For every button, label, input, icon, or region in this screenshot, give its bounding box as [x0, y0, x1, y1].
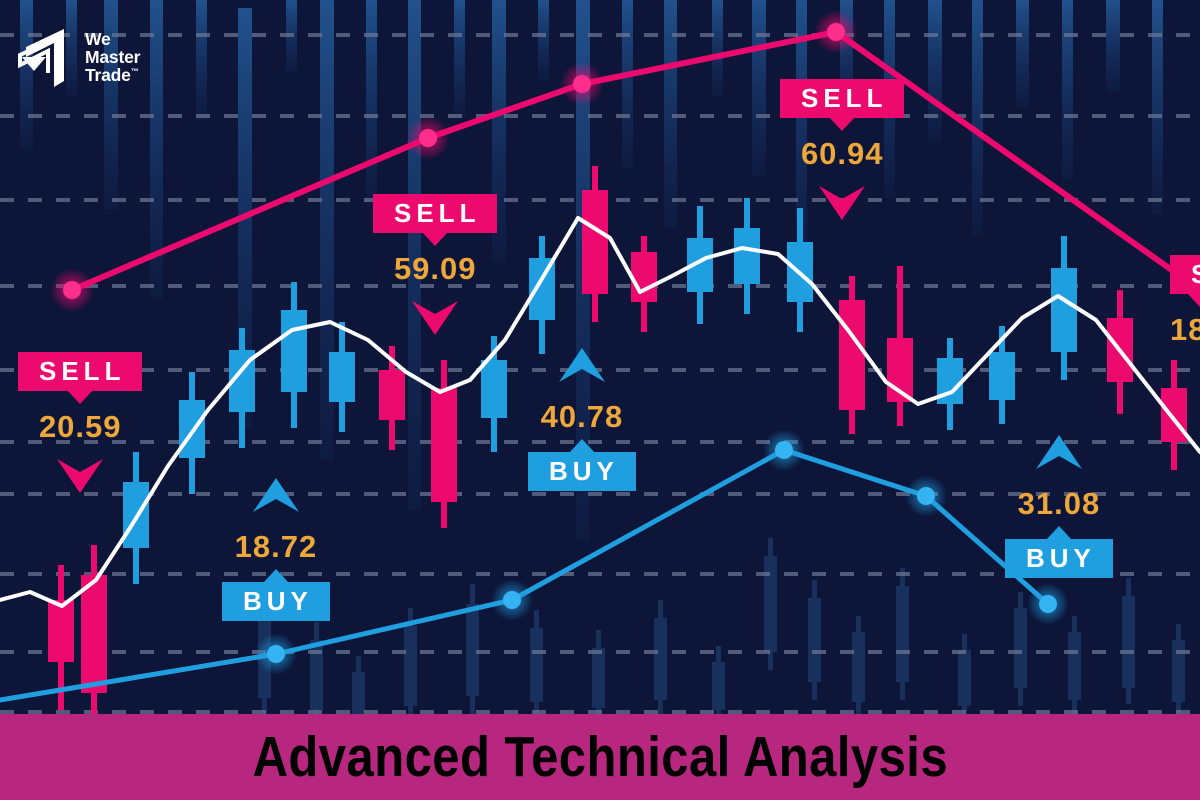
- signal-price: 59.09: [394, 253, 477, 284]
- up-triangle-icon: [1036, 435, 1082, 471]
- signal-marker-buy-31-08[interactable]: 31.08 BUY: [1005, 435, 1113, 578]
- brand-line-3: Trade™: [85, 67, 140, 85]
- sell-label[interactable]: SELL: [780, 79, 904, 118]
- up-triangle-icon: [559, 348, 605, 384]
- signal-marker-buy-18-72[interactable]: 18.72 BUY: [222, 478, 330, 621]
- up-triangle-icon: [253, 478, 299, 514]
- brand-line-3-text: Trade: [85, 65, 131, 85]
- signal-price: 31.08: [1018, 488, 1101, 519]
- trademark-symbol: ™: [131, 67, 139, 76]
- down-triangle-icon: [412, 301, 458, 337]
- signal-price: 40.78: [541, 401, 624, 432]
- buy-label[interactable]: BUY: [1005, 539, 1113, 578]
- chart-canvas: We Master Trade™ SELL 20.59 18.72 BUY: [0, 0, 1200, 800]
- bottom-banner: Advanced Technical Analysis: [0, 714, 1200, 800]
- brand-name: We Master Trade™: [85, 31, 140, 85]
- signal-price: 60.94: [801, 138, 884, 169]
- signal-price: 20.59: [39, 411, 122, 442]
- down-triangle-icon: [57, 459, 103, 495]
- signal-marker-buy-40-78[interactable]: 40.78 BUY: [528, 348, 636, 491]
- signal-price: 18.72: [235, 531, 318, 562]
- signal-marker-sell-20-59[interactable]: SELL 20.59: [18, 352, 142, 495]
- sell-label[interactable]: SELL: [18, 352, 142, 391]
- signal-price: 18: [1170, 314, 1200, 345]
- signal-marker-sell-edge-clipped[interactable]: S 18: [1170, 255, 1200, 345]
- brand-logo[interactable]: We Master Trade™: [18, 27, 140, 89]
- buy-label[interactable]: BUY: [222, 582, 330, 621]
- down-triangle-icon: [819, 186, 865, 222]
- signal-marker-sell-59-09[interactable]: SELL 59.09: [373, 194, 497, 337]
- signal-marker-sell-60-94[interactable]: SELL 60.94: [780, 79, 904, 222]
- wemastertrade-arrow-logo-icon: [18, 27, 74, 89]
- sell-label[interactable]: SELL: [373, 194, 497, 233]
- buy-label[interactable]: BUY: [528, 452, 636, 491]
- sell-label[interactable]: S: [1170, 255, 1200, 294]
- banner-title: Advanced Technical Analysis: [252, 729, 947, 786]
